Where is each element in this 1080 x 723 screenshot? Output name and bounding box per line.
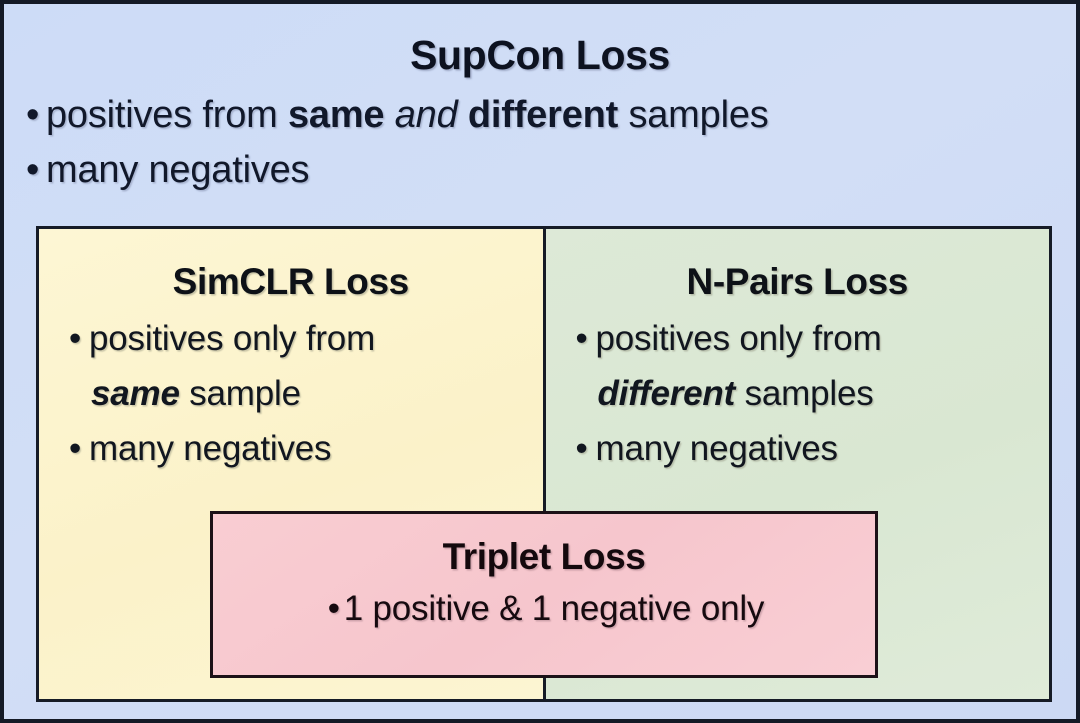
bullet-dot-icon: • [324,589,344,629]
bullet-dot-icon: • [576,311,596,366]
bullet-dot-icon: • [69,311,89,366]
supcon-loss-title: SupCon Loss [4,32,1076,79]
bullet-text-segment: sample [180,374,301,413]
bullet-dot-icon: • [69,421,89,476]
list-item: •many negatives [69,421,539,476]
bullet-dot-icon: • [576,421,596,476]
npairs-loss-title: N-Pairs Loss [546,261,1050,303]
supcon-loss-region: SupCon Loss •positives from same and dif… [4,4,1076,719]
triplet-loss-box: Triplet Loss •1 positive & 1 negative on… [210,511,878,678]
bullet-text-segment: many negatives [46,149,309,191]
list-item-continuation: same sample [69,366,539,421]
bullet-text-segment: positives from [46,94,288,136]
simclr-bullet-list: •positives only from same sample •many n… [69,311,539,476]
bullet-text-segment-emphasis: same [288,94,384,136]
npairs-bullet-list: •positives only from different samples •… [576,311,1046,476]
bullet-text-segment-emphasis: and [395,94,458,136]
simclr-loss-title: SimCLR Loss [39,261,543,303]
bullet-text-segment-emphasis: different [598,374,736,413]
bullet-text-segment [384,94,394,136]
bullet-text-segment: positives only from [89,319,375,358]
bullet-dot-icon: • [26,88,46,143]
list-item: •positives only from [69,311,539,366]
list-item: •many negatives [26,143,1046,198]
bullet-text-segment: positives only from [596,319,882,358]
diagram-canvas: SupCon Loss •positives from same and dif… [0,0,1080,723]
bullet-text-segment [458,94,468,136]
list-item: •positives from same and different sampl… [26,88,1046,143]
bullet-text-segment: samples [735,374,873,413]
bullet-text-segment-emphasis: different [468,94,618,136]
list-item-continuation: different samples [576,366,1046,421]
triplet-loss-title: Triplet Loss [213,536,875,578]
supcon-bullet-list: •positives from same and different sampl… [26,88,1046,198]
list-item: •1 positive & 1 negative only [213,589,875,629]
bullet-text-segment: 1 positive & 1 negative only [344,589,765,628]
bullet-text-segment-emphasis: same [91,374,180,413]
bullet-text-segment: many negatives [89,429,331,468]
bullet-text-segment: samples [618,94,768,136]
bullet-dot-icon: • [26,143,46,198]
list-item: •many negatives [576,421,1046,476]
list-item: •positives only from [576,311,1046,366]
bullet-text-segment: many negatives [596,429,838,468]
